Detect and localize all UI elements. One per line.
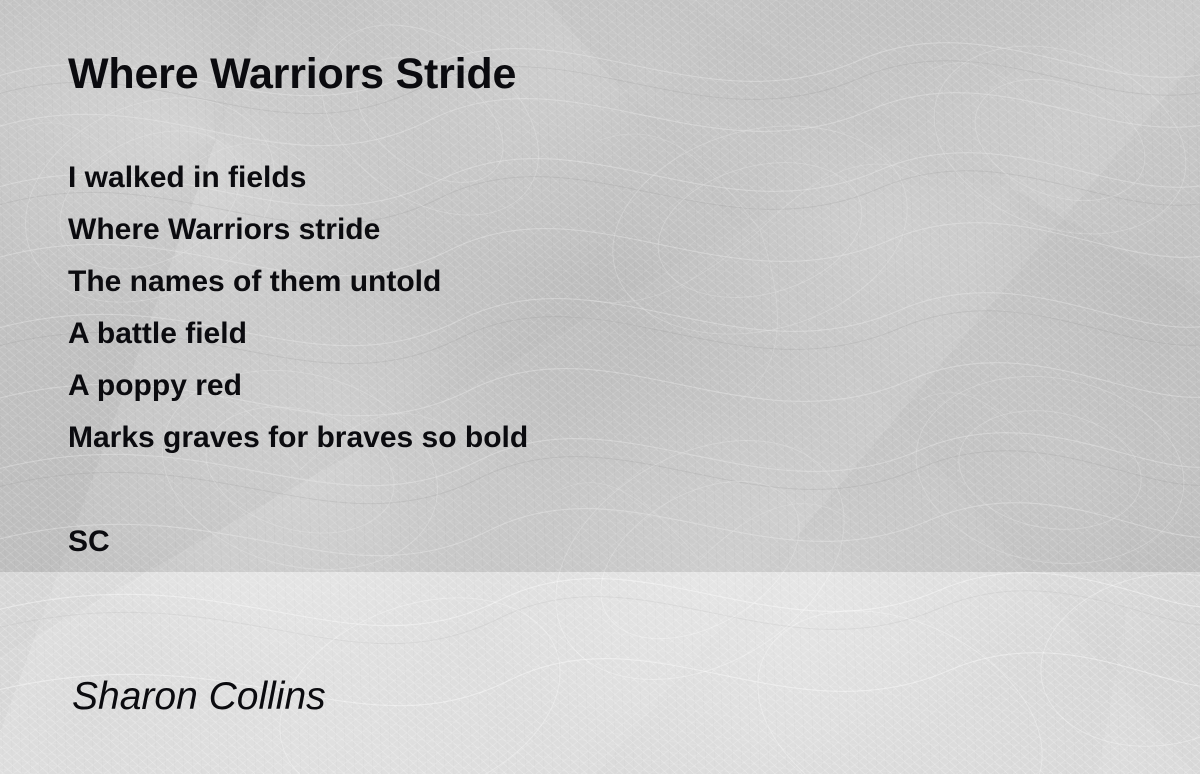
poem-line: A battle field bbox=[68, 308, 1068, 360]
poem-line: Where Warriors stride bbox=[68, 204, 1068, 256]
poem-line-blank bbox=[68, 464, 1068, 516]
poem-initials: SC bbox=[68, 516, 1068, 568]
poem-body: I walked in fields Where Warriors stride… bbox=[68, 152, 1068, 568]
poem-line: A poppy red bbox=[68, 360, 1068, 412]
poem-content: Where Warriors Stride I walked in fields… bbox=[0, 0, 1200, 774]
poem-title: Where Warriors Stride bbox=[68, 50, 516, 99]
poem-line: I walked in fields bbox=[68, 152, 1068, 204]
poet-name: Sharon Collins bbox=[72, 675, 326, 719]
poem-line: Marks graves for braves so bold bbox=[68, 412, 1068, 464]
poem-line: The names of them untold bbox=[68, 256, 1068, 308]
poem-image-card: Where Warriors Stride I walked in fields… bbox=[0, 0, 1200, 774]
